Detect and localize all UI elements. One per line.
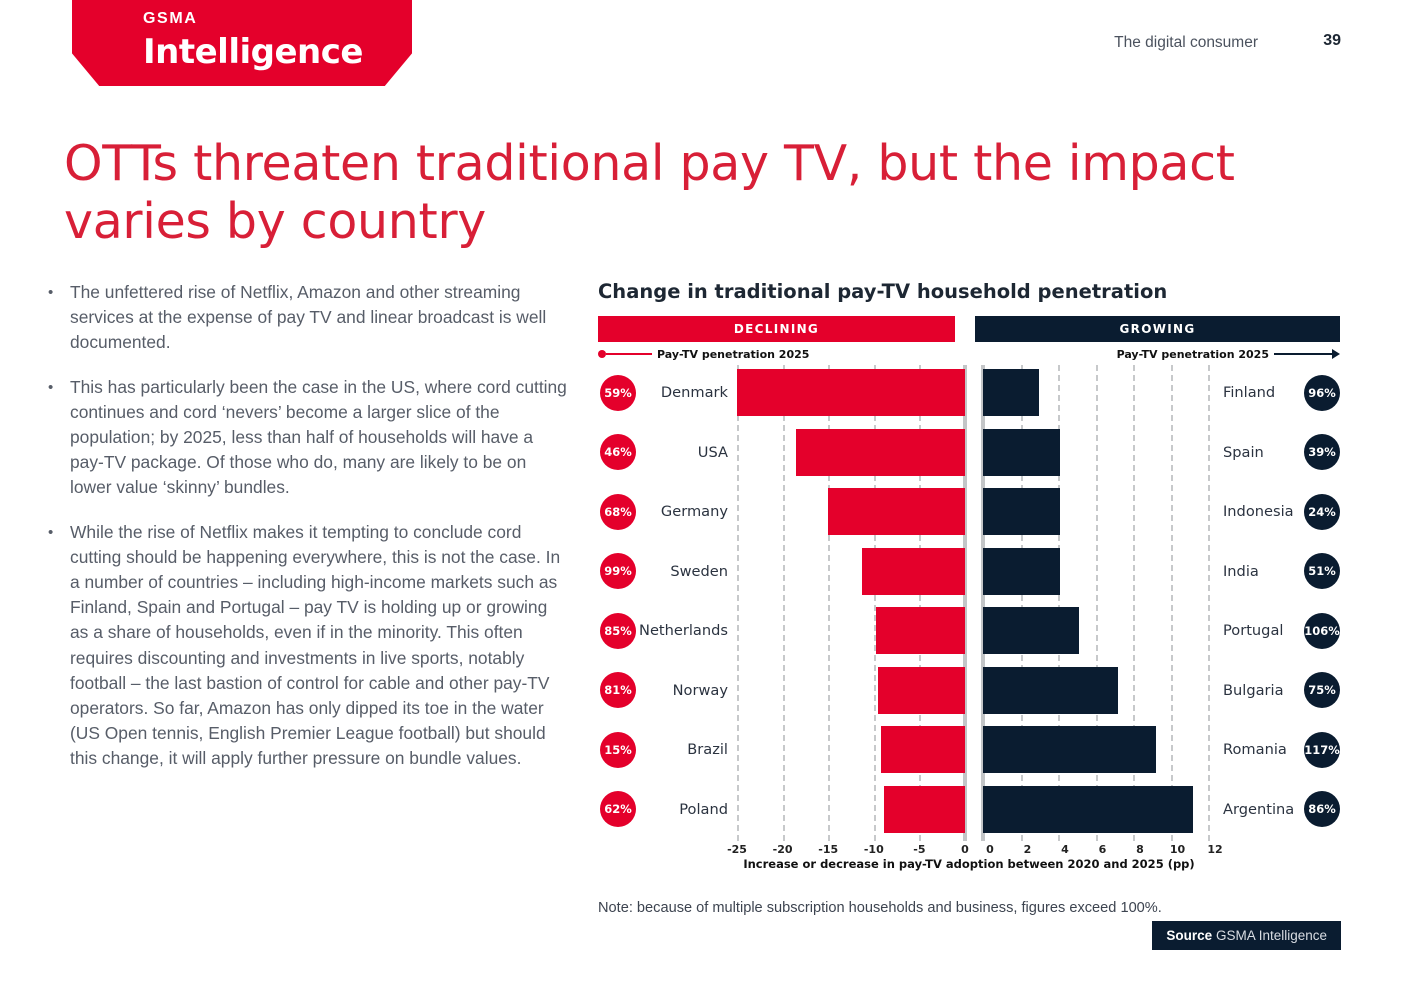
bullet-text: The unfettered rise of Netflix, Amazon a…	[70, 280, 568, 356]
bar-growing	[983, 548, 1060, 595]
bar-growing	[983, 667, 1118, 714]
bar-declining	[862, 548, 965, 595]
penetration-badge-growing: 75%	[1304, 672, 1340, 708]
band-declining: DECLINING	[598, 316, 955, 342]
country-label-declining: USA	[578, 429, 728, 476]
chart-title: Change in traditional pay-TV household p…	[598, 280, 1340, 303]
country-label-declining: Netherlands	[578, 607, 728, 654]
bar-growing	[983, 369, 1039, 416]
bullet-marker-icon: •	[48, 375, 70, 501]
page-title: OTTs threaten traditional pay TV, but th…	[64, 135, 1294, 251]
list-item: • The unfettered rise of Netflix, Amazon…	[48, 280, 568, 356]
country-label-declining: Sweden	[578, 548, 728, 595]
body-copy: • The unfettered rise of Netflix, Amazon…	[48, 280, 568, 791]
bar-growing	[983, 786, 1193, 833]
source-label: Source	[1166, 928, 1212, 943]
penetration-badge-growing: 106%	[1304, 613, 1340, 649]
page-number: 39	[1323, 32, 1341, 50]
gridline	[783, 365, 785, 841]
logo-intelligence-text: Intelligence	[143, 32, 363, 72]
source-badge: Source GSMA Intelligence	[1152, 921, 1341, 950]
gridline	[1171, 365, 1173, 841]
x-tick-declining: -25	[727, 843, 747, 856]
x-tick-growing: 2	[1024, 843, 1032, 856]
bar-growing	[983, 607, 1079, 654]
country-label-declining: Norway	[578, 667, 728, 714]
penetration-badge-growing: 51%	[1304, 553, 1340, 589]
panel-band-row: DECLINING GROWING	[598, 316, 1340, 342]
country-label-declining: Poland	[578, 786, 728, 833]
bar-declining	[881, 726, 965, 773]
bar-declining	[878, 667, 965, 714]
logo-gsma-text: GSMA	[143, 10, 197, 28]
x-tick-growing: 10	[1170, 843, 1185, 856]
chart-container: Change in traditional pay-TV household p…	[598, 280, 1340, 875]
x-tick-declining: 0	[961, 843, 969, 856]
chart-plot-area: 59%DenmarkFinland96%46%USASpain39%68%Ger…	[598, 365, 1340, 857]
header-section-title: The digital consumer	[1114, 34, 1258, 52]
legend-declining: Pay-TV penetration 2025	[598, 347, 955, 361]
x-tick-declining: -5	[913, 843, 925, 856]
legend-line-icon	[1274, 353, 1332, 355]
gridline	[1208, 365, 1210, 841]
legend-dot-icon	[598, 350, 606, 358]
country-label-declining: Denmark	[578, 369, 728, 416]
x-tick-declining: -20	[773, 843, 793, 856]
legend-growing: Pay-TV penetration 2025	[975, 347, 1340, 361]
bullet-text: While the rise of Netflix makes it tempt…	[70, 520, 568, 772]
gridline	[737, 365, 739, 841]
legend-label: Pay-TV penetration 2025	[1117, 348, 1269, 361]
x-tick-growing: 6	[1099, 843, 1107, 856]
x-tick-growing: 0	[986, 843, 994, 856]
chart-legend-row: Pay-TV penetration 2025 Pay-TV penetrati…	[598, 347, 1340, 361]
bar-declining	[884, 786, 965, 833]
chart-note: Note: because of multiple subscription h…	[598, 900, 1162, 916]
legend-arrow-icon	[1332, 349, 1340, 359]
penetration-badge-growing: 96%	[1304, 375, 1340, 411]
x-tick-growing: 4	[1061, 843, 1069, 856]
x-tick-declining: -15	[818, 843, 838, 856]
bar-growing	[983, 726, 1156, 773]
country-label-declining: Brazil	[578, 726, 728, 773]
list-item: • This has particularly been the case in…	[48, 375, 568, 501]
band-growing: GROWING	[975, 316, 1340, 342]
legend-line-icon	[606, 353, 652, 355]
bullet-text: This has particularly been the case in t…	[70, 375, 568, 501]
bar-declining	[796, 429, 965, 476]
chart-x-axis-label: Increase or decrease in pay-TV adoption …	[598, 857, 1340, 871]
penetration-badge-growing: 39%	[1304, 434, 1340, 470]
penetration-badge-growing: 86%	[1304, 791, 1340, 827]
legend-label: Pay-TV penetration 2025	[657, 348, 809, 361]
bar-declining	[876, 607, 965, 654]
list-item: • While the rise of Netflix makes it tem…	[48, 520, 568, 772]
bar-growing	[983, 429, 1060, 476]
bar-growing	[983, 488, 1060, 535]
country-label-declining: Germany	[578, 488, 728, 535]
bullet-marker-icon: •	[48, 280, 70, 356]
penetration-badge-growing: 117%	[1304, 732, 1340, 768]
source-value: GSMA Intelligence	[1216, 928, 1327, 943]
bullet-marker-icon: •	[48, 520, 70, 772]
x-tick-growing: 12	[1207, 843, 1222, 856]
x-tick-growing: 8	[1136, 843, 1144, 856]
bar-declining	[828, 488, 965, 535]
x-tick-declining: -10	[864, 843, 884, 856]
bar-declining	[737, 369, 965, 416]
penetration-badge-growing: 24%	[1304, 494, 1340, 530]
